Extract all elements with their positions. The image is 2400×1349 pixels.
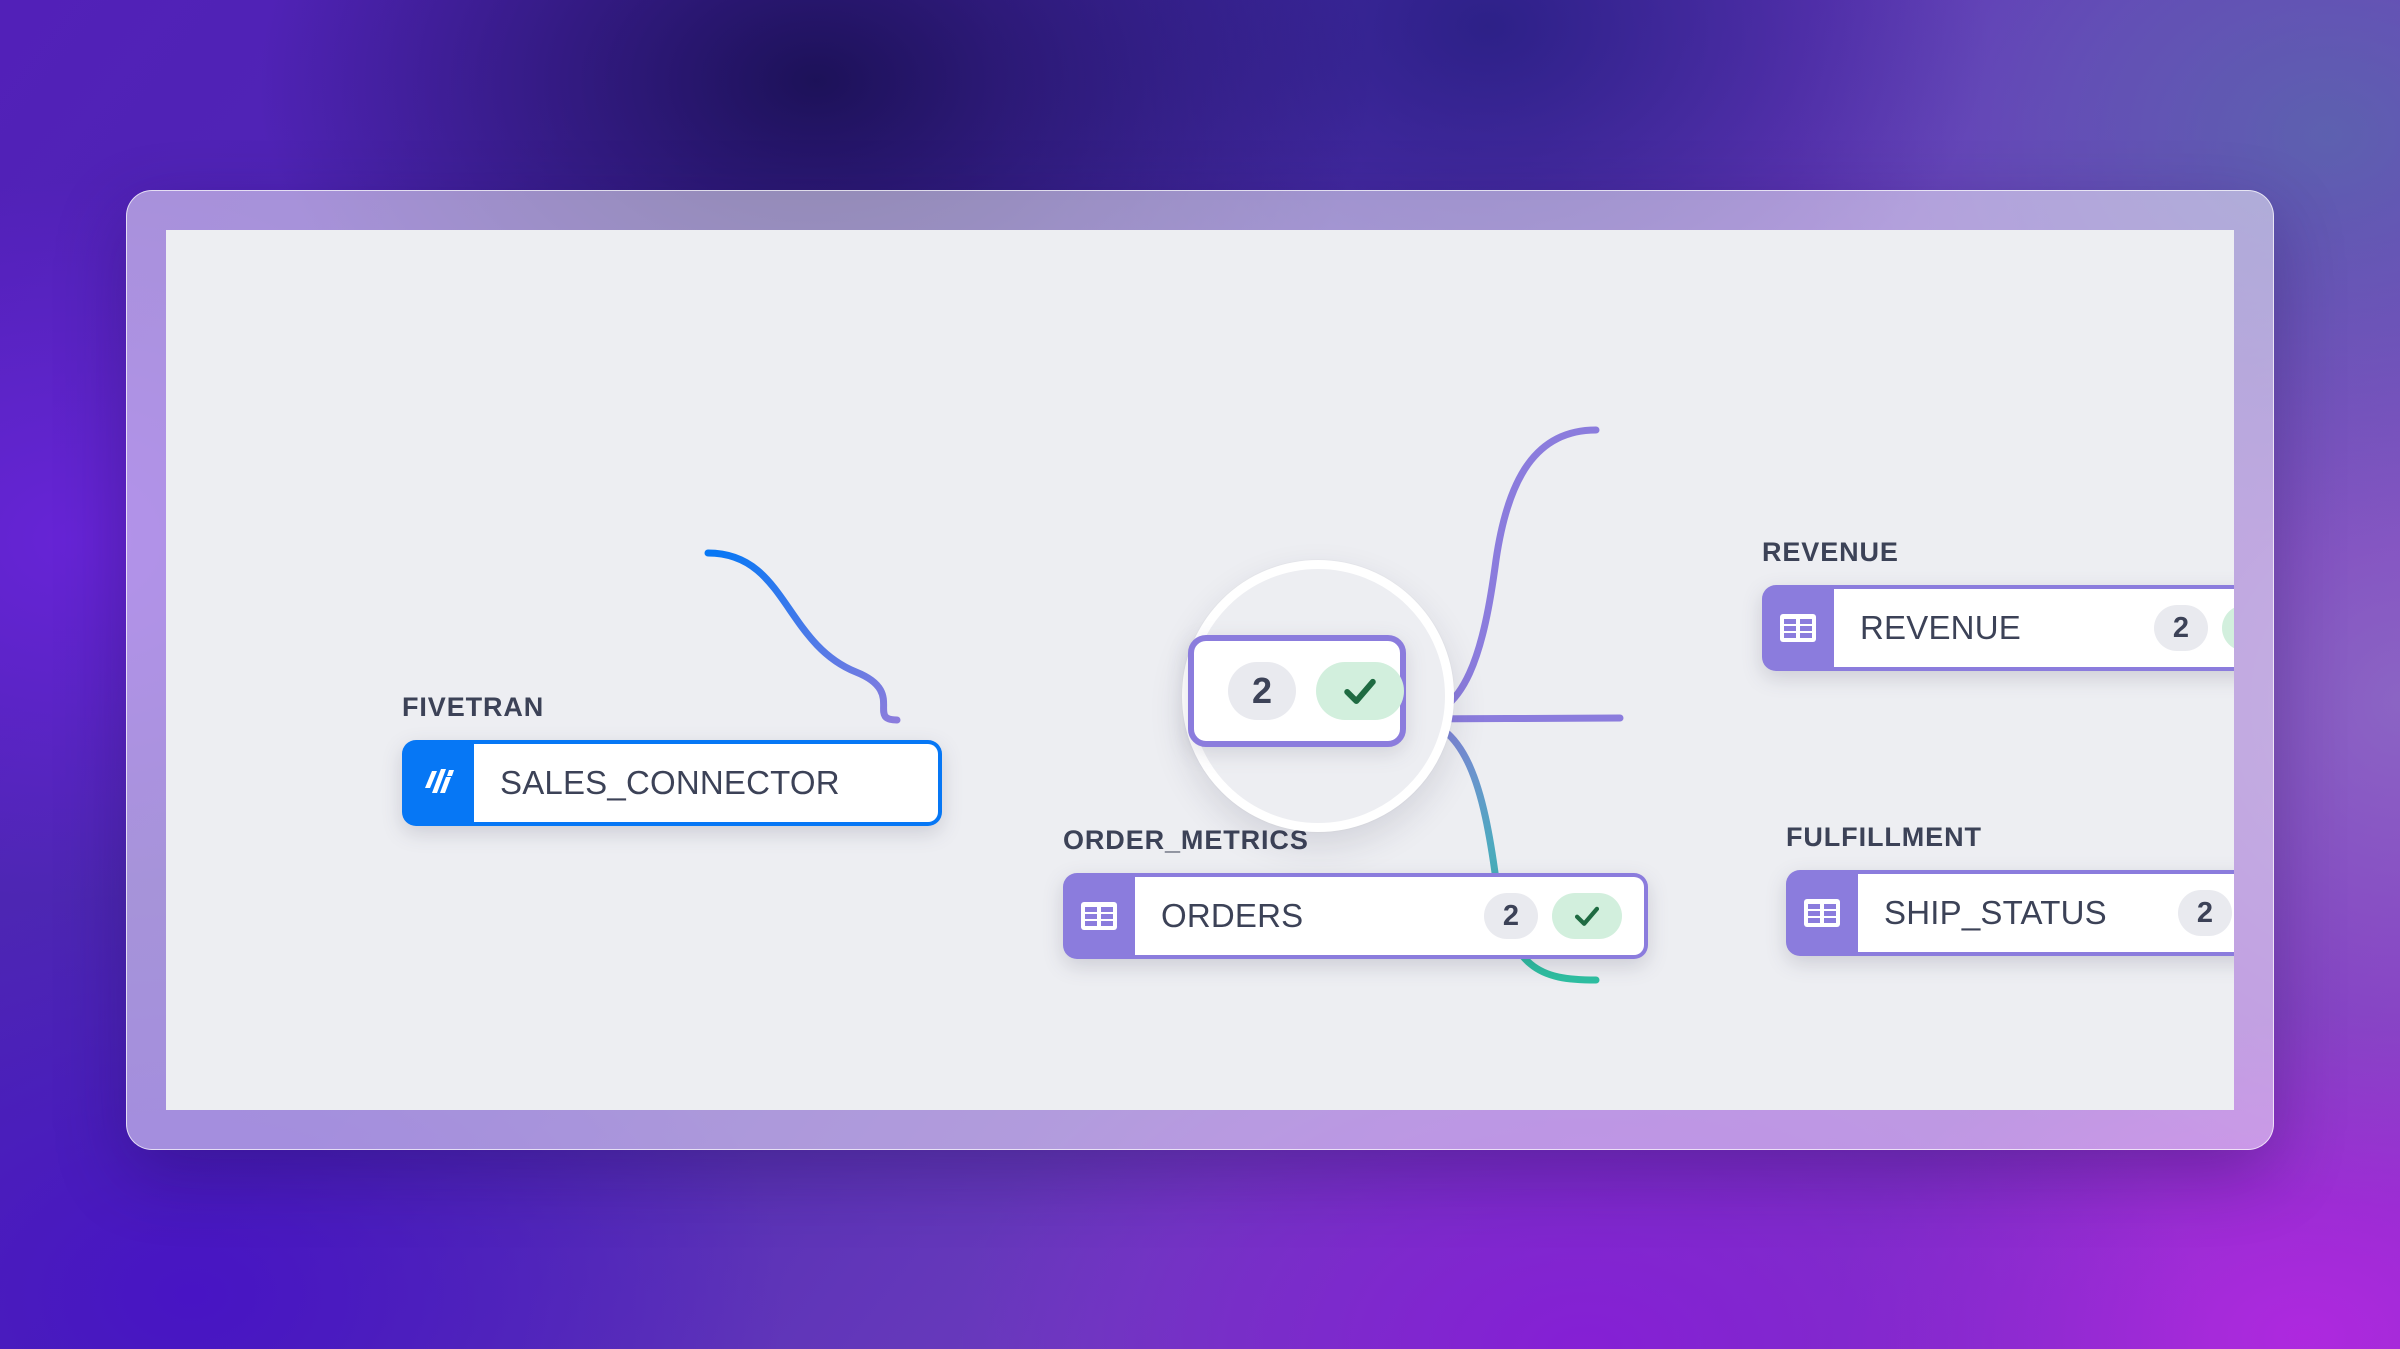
- magnified-count-badge: 2: [1228, 662, 1296, 720]
- node-sales-connector-body: SALES_CONNECTOR: [474, 740, 942, 826]
- node-name-ship-status: SHIP_STATUS: [1884, 894, 2164, 932]
- node-ship-status[interactable]: SHIP_STATUS 2: [1786, 870, 2234, 956]
- node-ship-status-body: SHIP_STATUS 2: [1858, 870, 2234, 956]
- table-icon: [1762, 585, 1834, 671]
- edge-sales-connector-to-orders: [708, 553, 897, 720]
- node-name-orders: ORDERS: [1161, 897, 1470, 935]
- node-sales-connector[interactable]: SALES_CONNECTOR: [402, 740, 942, 826]
- table-icon: [1786, 870, 1858, 956]
- node-orders[interactable]: ORDERS 2: [1063, 873, 1648, 959]
- node-orders-count-badge: 2: [1484, 893, 1538, 939]
- node-ship-status-count-badge: 2: [2178, 890, 2232, 936]
- node-revenue-status-badge: [2222, 605, 2234, 651]
- node-orders-body: ORDERS 2: [1135, 873, 1648, 959]
- node-name-revenue: REVENUE: [1860, 609, 2140, 647]
- group-label-revenue: REVENUE: [1762, 537, 1899, 568]
- group-label-fulfillment: FULFILLMENT: [1786, 822, 1982, 853]
- node-revenue[interactable]: REVENUE 2: [1762, 585, 2234, 671]
- node-revenue-count-badge: 2: [2154, 605, 2208, 651]
- table-icon: [1063, 873, 1135, 959]
- lineage-canvas[interactable]: FIVETRAN ORDER_METRICS REVENUE FULFILLME…: [166, 230, 2234, 1110]
- group-label-fivetran: FIVETRAN: [402, 692, 544, 723]
- magnified-node-fragment[interactable]: 2: [1188, 635, 1406, 747]
- node-name-sales-connector: SALES_CONNECTOR: [500, 764, 916, 802]
- node-revenue-body: REVENUE 2: [1834, 585, 2234, 671]
- magnified-status-badge: [1316, 662, 1404, 720]
- group-label-order-metrics: ORDER_METRICS: [1063, 825, 1309, 856]
- check-icon: [1338, 669, 1382, 713]
- check-icon: [1570, 899, 1604, 933]
- fivetran-logo-icon: [402, 740, 474, 826]
- node-orders-status-badge: [1552, 893, 1622, 939]
